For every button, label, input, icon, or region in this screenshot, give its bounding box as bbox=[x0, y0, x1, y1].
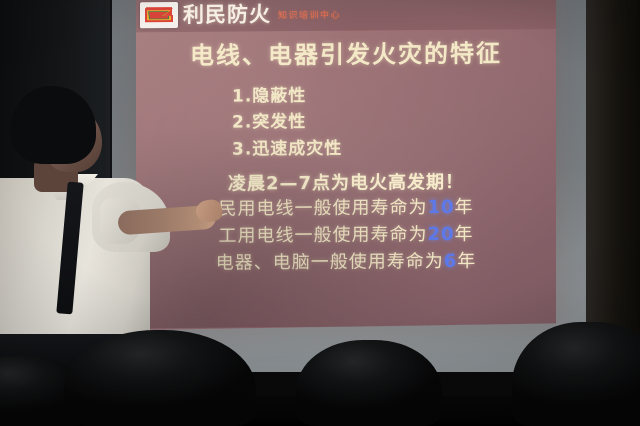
z-flame-logo-icon bbox=[143, 5, 175, 25]
lifespan-suffix-3: 年 bbox=[457, 251, 476, 272]
audience-row bbox=[0, 316, 640, 426]
lifespan-prefix-3: 电器、电脑一般使用寿命为 bbox=[216, 251, 444, 274]
lifespan-suffix-2: 年 bbox=[455, 224, 474, 245]
bullet-item-1: 1.隐蔽性 bbox=[232, 83, 342, 110]
audience-head-1 bbox=[64, 330, 256, 426]
photo-frame: 利民防火 知识培训中心 电线、电器引发火灾的特征 1.隐蔽性 2.突发性 3.迅… bbox=[0, 0, 640, 426]
brand-subtitle: 知识培训中心 bbox=[278, 7, 341, 20]
bullet-item-2: 2.突发性 bbox=[232, 109, 342, 136]
lifespan-number-3: 6 bbox=[444, 251, 458, 272]
brand-logo bbox=[140, 2, 178, 28]
lifespan-suffix-1: 年 bbox=[455, 197, 474, 218]
audience-head-3 bbox=[512, 322, 640, 426]
lifespan-prefix-2: 工用电线一般使用寿命为 bbox=[218, 224, 427, 247]
lifespan-number-1: 10 bbox=[427, 197, 454, 218]
lifespan-prefix-1: 民用电线一般使用寿命为 bbox=[218, 197, 427, 220]
slide-bullet-list: 1.隐蔽性 2.突发性 3.迅速成灾性 bbox=[232, 83, 342, 163]
slide-title: 电线、电器引发火灾的特征 bbox=[136, 33, 556, 71]
slide-header: 利民防火 知识培训中心 bbox=[136, 0, 556, 32]
audience-head-2 bbox=[296, 340, 442, 426]
lifespan-number-2: 20 bbox=[427, 224, 454, 245]
brand-name: 利民防火 bbox=[183, 4, 271, 26]
presenter-hair bbox=[10, 86, 96, 164]
bullet-item-3: 3.迅速成灾性 bbox=[232, 135, 342, 162]
